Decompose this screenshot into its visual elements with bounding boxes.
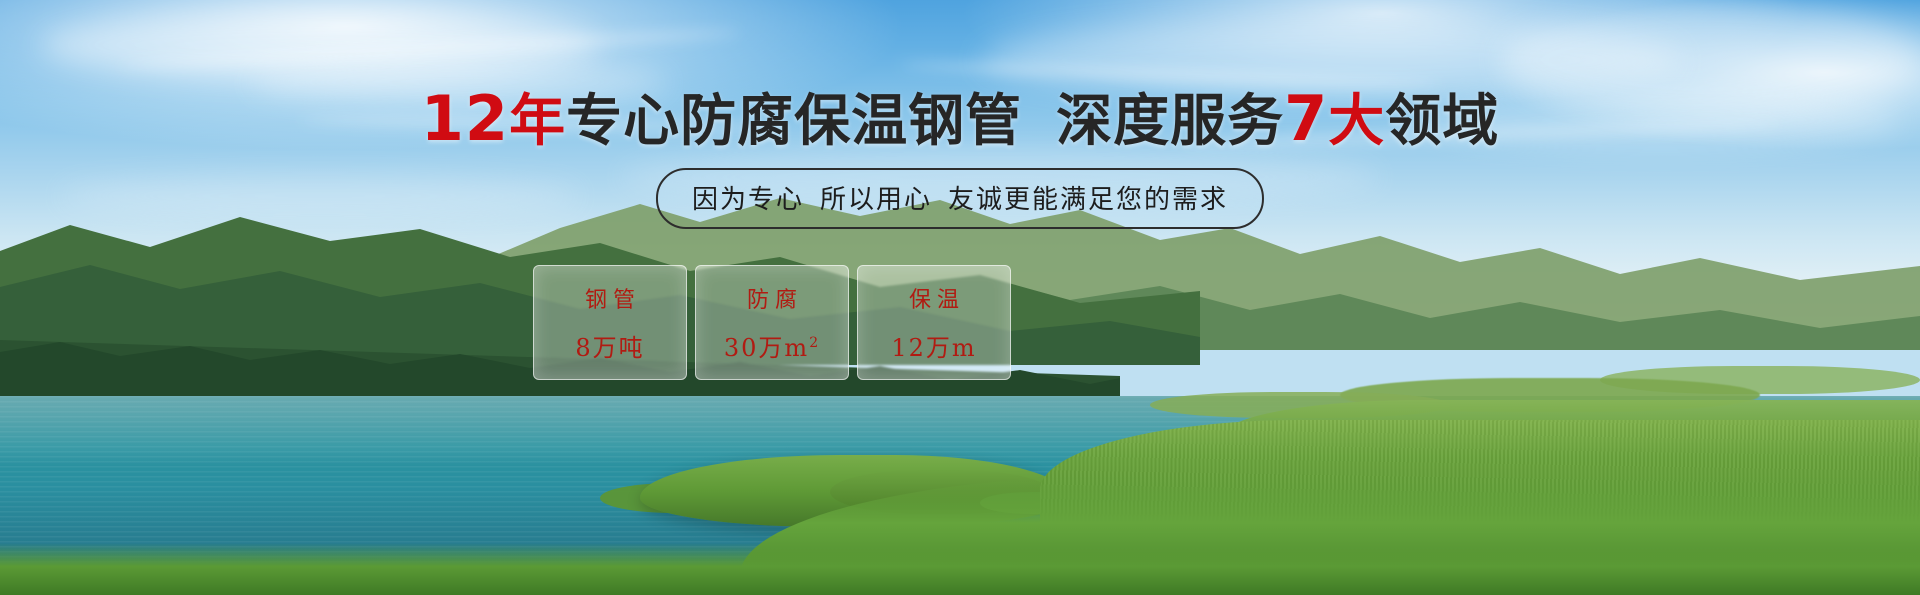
stat-label: 防腐 — [741, 282, 803, 314]
stat-value: 12万m — [891, 328, 976, 363]
stat-label: 保温 — [903, 282, 965, 314]
hero-banner: 12年专心防腐保温钢管深度服务7大领域 因为专心所以用心友诚更能满足您的需求 钢… — [0, 0, 1920, 595]
subtitle-part-2: 所以用心 — [820, 185, 932, 215]
headline-main-text: 专心防腐保温钢管 — [566, 89, 1022, 154]
stat-label: 钢管 — [579, 282, 641, 314]
stat-card-steel-pipe[interactable]: 钢管 8万吨 — [533, 265, 687, 380]
headline-years-number: 12 — [421, 82, 509, 155]
stats-card-group: 钢管 8万吨 防腐 30万m2 保温 12万m — [533, 265, 1011, 380]
subtitle-part-3: 友诚更能满足您的需求 — [948, 185, 1228, 215]
stat-card-anticorrosion[interactable]: 防腐 30万m2 — [695, 265, 849, 380]
stat-value-superscript: 2 — [809, 335, 820, 351]
stat-card-insulation[interactable]: 保温 12万m — [857, 265, 1011, 380]
stat-value: 8万吨 — [575, 328, 644, 363]
stat-value: 30万m2 — [724, 328, 820, 363]
banner-headline: 12年专心防腐保温钢管深度服务7大领域 — [0, 88, 1920, 150]
headline-years-unit: 年 — [509, 89, 566, 154]
headline-service-text: 深度服务 — [1056, 89, 1284, 154]
stat-value-main: 30万m — [724, 334, 809, 362]
headline-fields-unit: 大 — [1328, 89, 1385, 154]
stat-value-main: 8万吨 — [575, 334, 644, 362]
headline-fields-number: 7 — [1284, 82, 1328, 155]
headline-fields-text: 领域 — [1385, 89, 1499, 154]
subtitle-part-1: 因为专心 — [692, 185, 804, 215]
subtitle-pill: 因为专心所以用心友诚更能满足您的需求 — [656, 168, 1264, 229]
stat-value-main: 12万m — [891, 334, 976, 362]
foreground-grass — [0, 543, 1920, 595]
